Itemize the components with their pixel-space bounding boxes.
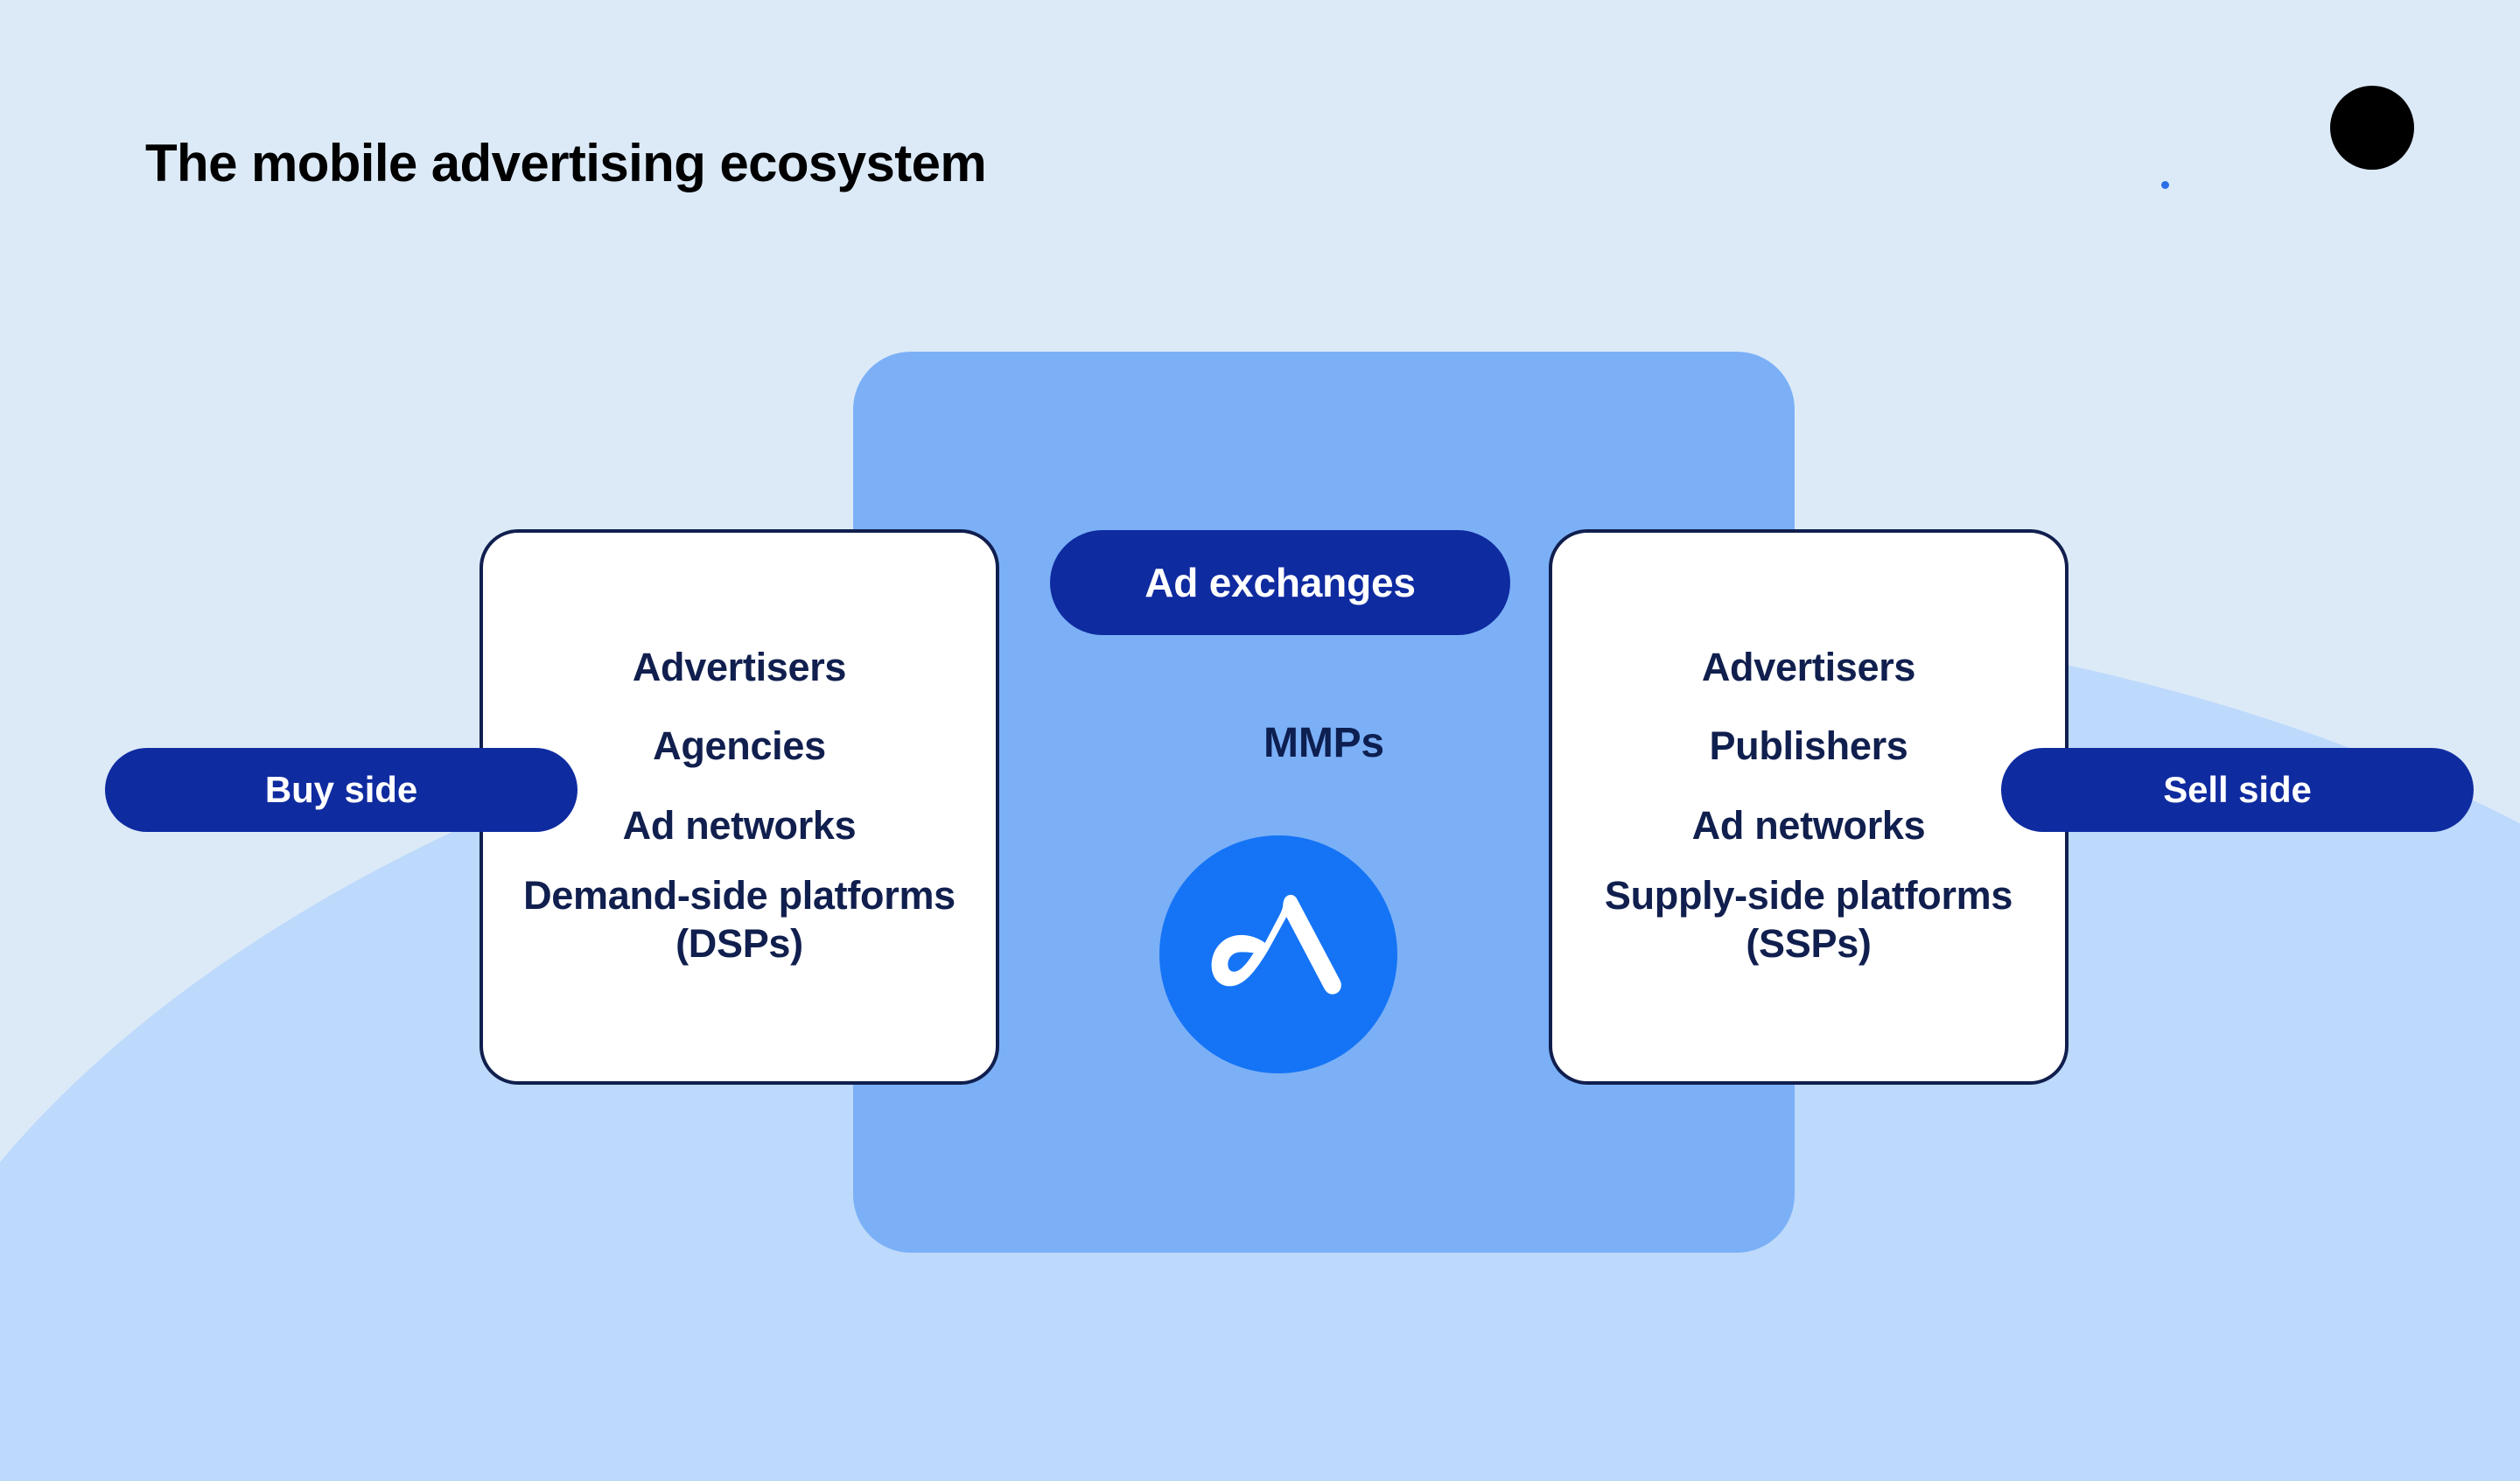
appsflyer-a-logo-icon: [1200, 877, 1356, 1032]
ecosystem-diagram: The mobile advertising ecosystem Ad exch…: [0, 0, 2520, 1481]
sell-side-item-ad-networks: Ad networks: [1575, 804, 2042, 848]
sell-side-pill: Sell side: [2001, 748, 2474, 832]
buy-side-item-dsps: Demand-side platforms (DSPs): [506, 872, 973, 968]
sell-side-item-advertisers: Advertisers: [1575, 646, 2042, 689]
page-title: The mobile advertising ecosystem: [145, 133, 986, 193]
appsflyer-a-logo-icon: [2345, 101, 2399, 155]
ad-exchanges-pill: Ad exchanges: [1050, 530, 1510, 635]
ad-exchanges-label: Ad exchanges: [1144, 559, 1416, 606]
buy-side-item-ad-networks: Ad networks: [506, 804, 973, 848]
brand-logo: [2330, 86, 2414, 170]
sell-side-card: Advertisers Publishers Ad networks Suppl…: [1549, 529, 2068, 1085]
mmp-logo-badge: [1159, 835, 1397, 1073]
buy-side-pill: Buy side: [105, 748, 577, 832]
sell-side-pill-label: Sell side: [2163, 769, 2312, 811]
buy-side-pill-label: Buy side: [265, 769, 417, 811]
sell-side-item-ssps: Supply-side platforms (SSPs): [1575, 872, 2042, 968]
buy-side-item-agencies: Agencies: [506, 724, 973, 768]
buy-side-item-advertisers: Advertisers: [506, 646, 973, 689]
accent-dot: [2161, 181, 2169, 189]
sell-side-item-publishers: Publishers: [1575, 724, 2042, 768]
